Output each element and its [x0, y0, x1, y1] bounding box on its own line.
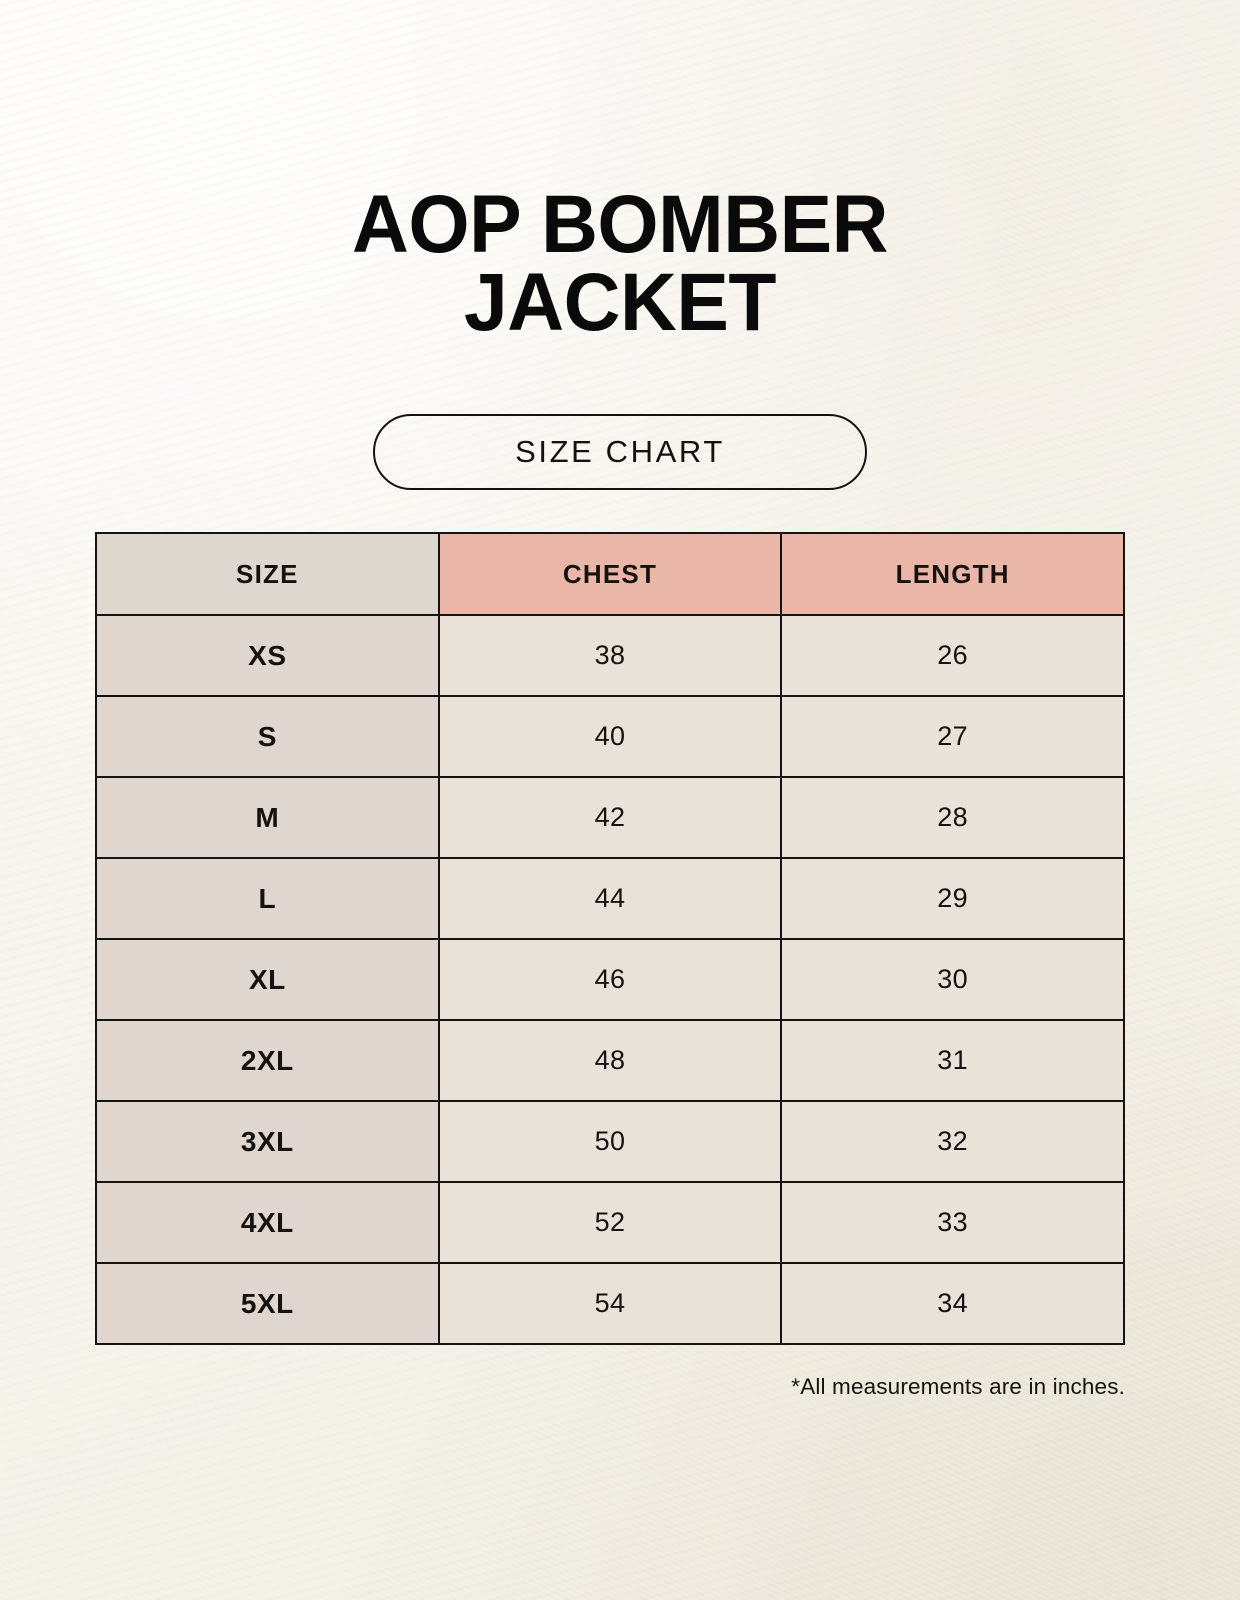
size-chart-table: SIZE CHEST LENGTH XS 38 26 S 40 27 M 42 …	[95, 532, 1125, 1345]
column-header-chest: CHEST	[439, 533, 782, 615]
cell-length: 31	[781, 1020, 1124, 1101]
cell-chest: 48	[439, 1020, 782, 1101]
cell-chest: 54	[439, 1263, 782, 1344]
size-chart-badge: SIZE CHART	[373, 414, 867, 490]
cell-size: 2XL	[96, 1020, 439, 1101]
measurement-unit-note: *All measurements are in inches.	[95, 1374, 1125, 1400]
cell-size: XL	[96, 939, 439, 1020]
cell-chest: 50	[439, 1101, 782, 1182]
cell-length: 26	[781, 615, 1124, 696]
table-header: SIZE CHEST LENGTH	[96, 533, 1124, 615]
cell-size: 3XL	[96, 1101, 439, 1182]
cell-length: 28	[781, 777, 1124, 858]
cell-size: M	[96, 777, 439, 858]
cell-chest: 46	[439, 939, 782, 1020]
page-title: AOP BOMBER JACKET	[25, 186, 1215, 342]
table-header-row: SIZE CHEST LENGTH	[96, 533, 1124, 615]
table-row: 5XL 54 34	[96, 1263, 1124, 1344]
table-row: XL 46 30	[96, 939, 1124, 1020]
column-header-length: LENGTH	[781, 533, 1124, 615]
cell-chest: 42	[439, 777, 782, 858]
table-row: L 44 29	[96, 858, 1124, 939]
column-header-size: SIZE	[96, 533, 439, 615]
cell-chest: 40	[439, 696, 782, 777]
cell-chest: 44	[439, 858, 782, 939]
cell-chest: 52	[439, 1182, 782, 1263]
cell-length: 27	[781, 696, 1124, 777]
cell-size: S	[96, 696, 439, 777]
table-row: S 40 27	[96, 696, 1124, 777]
table-row: M 42 28	[96, 777, 1124, 858]
cell-length: 32	[781, 1101, 1124, 1182]
size-chart-badge-container: SIZE CHART	[0, 414, 1240, 490]
cell-chest: 38	[439, 615, 782, 696]
table-row: XS 38 26	[96, 615, 1124, 696]
cell-length: 30	[781, 939, 1124, 1020]
table-row: 4XL 52 33	[96, 1182, 1124, 1263]
table-row: 3XL 50 32	[96, 1101, 1124, 1182]
cell-size: L	[96, 858, 439, 939]
cell-length: 29	[781, 858, 1124, 939]
cell-size: 5XL	[96, 1263, 439, 1344]
cell-length: 33	[781, 1182, 1124, 1263]
table-row: 2XL 48 31	[96, 1020, 1124, 1101]
table-body: XS 38 26 S 40 27 M 42 28 L 44 29 XL 46 3…	[96, 615, 1124, 1344]
cell-size: 4XL	[96, 1182, 439, 1263]
cell-size: XS	[96, 615, 439, 696]
cell-length: 34	[781, 1263, 1124, 1344]
